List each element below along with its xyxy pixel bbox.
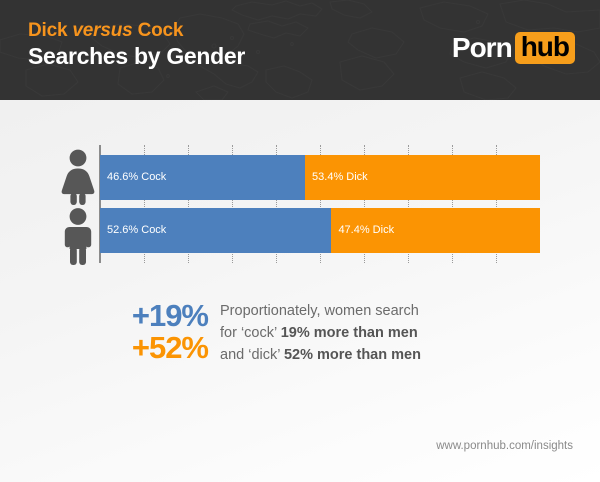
page-title-primary: Dick versus Cock — [28, 19, 245, 42]
bar-label-dick-male: 47.4% Dick — [331, 225, 394, 236]
summary-line-1: Proportionately, women search — [220, 300, 550, 322]
summary-block: +19% +52% Proportionately, women search … — [0, 300, 600, 366]
title-suffix: Cock — [133, 20, 184, 41]
summary-line-2-prefix: for ‘cock’ — [220, 325, 281, 341]
bar-label-dick-female: 53.4% Dick — [305, 172, 368, 183]
bar-segment-dick-male[interactable]: 47.4% Dick — [331, 208, 540, 253]
body-area: 46.6% Cock 53.4% Dick 52.6% Cock 47.4% D… — [0, 100, 600, 482]
title-prefix: Dick — [28, 20, 72, 41]
gender-icon-column — [56, 145, 100, 270]
title-versus: versus — [72, 20, 132, 41]
summary-line-3: and ‘dick’ 52% more than men — [220, 344, 550, 366]
summary-line-3-prefix: and ‘dick’ — [220, 347, 284, 363]
female-icon — [56, 149, 100, 205]
infographic-root: Dick versus Cock Searches by Gender Porn… — [0, 0, 600, 482]
logo-porn-text: Porn — [452, 34, 512, 62]
summary-description: Proportionately, women search for ‘cock’… — [220, 300, 550, 366]
bar-row-female: 46.6% Cock 53.4% Dick — [100, 155, 540, 200]
footer-url[interactable]: www.pornhub.com/insights — [436, 440, 573, 452]
page-title-secondary: Searches by Gender — [28, 42, 245, 70]
bar-row-male: 52.6% Cock 47.4% Dick — [100, 208, 540, 253]
title-block: Dick versus Cock Searches by Gender — [28, 19, 245, 70]
male-icon — [56, 207, 100, 265]
summary-line-2-bold: 19% more than men — [281, 325, 418, 341]
bar-label-cock-female: 46.6% Cock — [100, 172, 166, 183]
summary-percent-cock: +19% — [0, 300, 208, 332]
bar-segment-cock-male[interactable]: 52.6% Cock — [100, 208, 331, 253]
bar-label-cock-male: 52.6% Cock — [100, 225, 166, 236]
summary-line-2: for ‘cock’ 19% more than men — [220, 322, 550, 344]
summary-percent-column: +19% +52% — [0, 300, 220, 364]
logo-hub-badge: hub — [515, 32, 575, 64]
summary-line-3-bold: 52% more than men — [284, 347, 421, 363]
chart-plot-area: 46.6% Cock 53.4% Dick 52.6% Cock 47.4% D… — [100, 145, 540, 270]
stacked-bar-chart: 46.6% Cock 53.4% Dick 52.6% Cock 47.4% D… — [0, 145, 600, 270]
summary-percent-dick: +52% — [0, 332, 208, 364]
bar-segment-dick-female[interactable]: 53.4% Dick — [305, 155, 540, 200]
header-bar: Dick versus Cock Searches by Gender Porn… — [0, 0, 600, 100]
pornhub-logo[interactable]: Porn hub — [452, 32, 575, 64]
bar-segment-cock-female[interactable]: 46.6% Cock — [100, 155, 305, 200]
